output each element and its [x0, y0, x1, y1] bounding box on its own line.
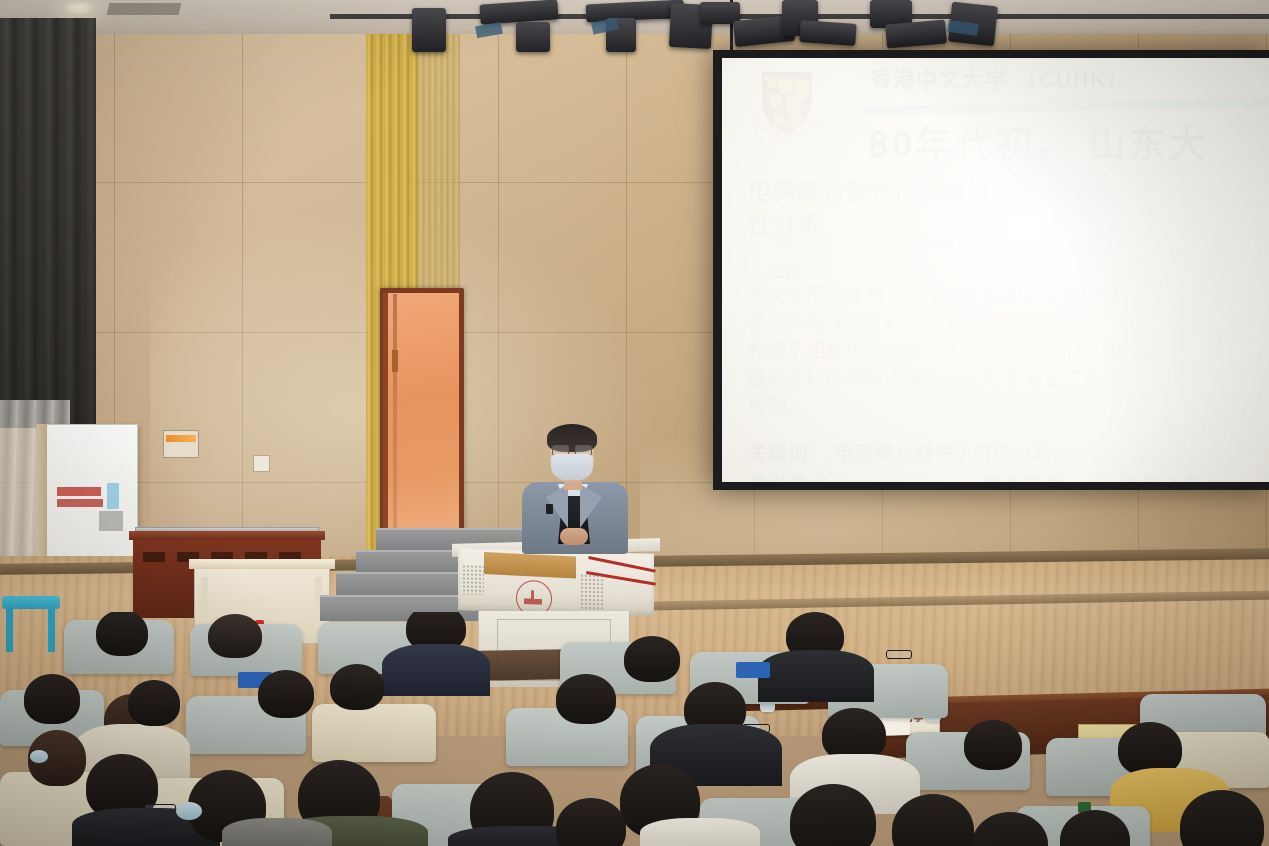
meta-year: 1982 — [1033, 237, 1075, 256]
stage-light-icon — [885, 19, 947, 48]
lectern-speaker-grille — [462, 564, 484, 595]
abstract-l3-highlight-2: CCD — [1039, 341, 1081, 362]
auditorium-seat[interactable] — [312, 704, 436, 762]
meta-dash-2: - — [1015, 237, 1033, 256]
slide-heading: 80年代初， 山东大 — [868, 114, 1208, 168]
paper-cited-count: 被引量: 5 — [748, 470, 829, 482]
wall-socket — [253, 455, 270, 472]
cabinet-plate — [99, 511, 123, 531]
stage-light-icon — [799, 20, 856, 46]
lectern-speaker-grille — [580, 574, 604, 611]
table-top — [189, 559, 335, 569]
abstract-l1-highlight: CCD — [949, 285, 991, 306]
abstract-l5: 检测... — [748, 397, 804, 418]
abstract-l3a: 构成了 — [748, 341, 806, 362]
paper-abstract: 本文采用电荷耦合器件(CCD)获得 了对模拟 信号的连续可变延迟,并以CCD为中… — [748, 282, 1268, 423]
slide-content: 博文約禮 香港中文大学 （CUHK） 80年代初， 山东大 电荷耦合器件(CCD… — [722, 58, 1269, 482]
hair-tie — [176, 802, 202, 820]
presenter-glasses-icon — [552, 445, 592, 454]
door-gap — [393, 294, 397, 548]
presenter — [520, 424, 630, 554]
meta-author: 张元亭 — [775, 237, 829, 256]
stage-light-icon — [516, 22, 550, 52]
door-jamb — [383, 293, 388, 552]
abstract-l2b: 为中心部件 — [1009, 313, 1106, 334]
slide-rule — [866, 98, 1269, 116]
lecture-hall-photo: 博文約禮 香港中文大学 （CUHK） 80年代初， 山东大 电荷耦合器件(CCD… — [0, 0, 1269, 846]
abstract-l3-highlight: 相关 — [806, 341, 845, 362]
lectern-face — [458, 548, 654, 615]
related-articles-link[interactable]: 相关文章 — [982, 470, 1066, 482]
paper-title-part-1: 电荷耦合器件( — [748, 179, 904, 206]
side-door[interactable] — [380, 288, 464, 552]
audience-head — [24, 674, 80, 724]
ceiling-vent — [107, 3, 182, 15]
lectern-wood-panel — [484, 552, 576, 578]
cuhk-crest-icon: 博文約禮 — [744, 68, 830, 140]
audience-area — [0, 612, 1269, 846]
seat-number-tag — [736, 662, 770, 678]
audience-head — [330, 664, 384, 710]
abstract-l2a: 信号的连续可变延迟,并以 — [748, 313, 967, 334]
screen-surface: 博文約禮 香港中文大学 （CUHK） 80年代初， 山东大 电荷耦合器件(CCD… — [722, 58, 1269, 482]
audience-head — [556, 674, 616, 724]
cabinet-label — [57, 487, 101, 496]
hair-tie — [30, 750, 48, 763]
stage-light-barndoor — [475, 22, 503, 38]
presenter-face-mask — [551, 454, 593, 480]
audience-shoulders — [758, 650, 874, 702]
abstract-l3b: 检测系统。文中讨论了 — [845, 341, 1039, 362]
audience-shoulders — [640, 818, 760, 846]
svg-text:博文約禮: 博文約禮 — [775, 132, 799, 140]
presenter-hands — [560, 528, 588, 545]
meta-source: 《山东大学学报(理... — [847, 237, 1015, 256]
audience-head — [556, 798, 626, 846]
audience-shoulders — [382, 644, 490, 696]
door-leaf — [388, 293, 459, 552]
stage-curtain — [0, 18, 96, 428]
audience-head — [258, 670, 314, 718]
lectern-accent-line — [588, 556, 655, 573]
meta-database: 知网 — [768, 258, 804, 283]
cabinet-label-2 — [57, 499, 103, 507]
cabinet-tag — [107, 483, 119, 509]
audience-shoulders — [222, 818, 332, 846]
abstract-l1a: 本文采用电荷耦合器件( — [748, 285, 949, 306]
meta-prefix: ... — [752, 237, 775, 256]
paper-title-part-2: )相关器及其特 — [957, 179, 1113, 206]
abstract-l4: 延时系统的参数选择的一些考虑,给出了该 — [748, 369, 1103, 390]
audience-head — [964, 720, 1022, 770]
abstract-l1b: )获得 了对模拟 — [991, 285, 1120, 306]
presenter-badge — [546, 504, 553, 514]
meta-dash-3: - — [1075, 237, 1087, 256]
credenza-top — [129, 531, 325, 540]
audience-head — [96, 612, 148, 656]
free-download-link[interactable]: 免费下载 — [1122, 470, 1206, 482]
ceiling-light-icon — [62, 2, 96, 16]
door-hinge — [392, 350, 398, 372]
stage-light-icon — [479, 0, 558, 25]
abstract-l2-highlight: CCD — [967, 313, 1009, 334]
paper-keywords: 关键词： 电荷耦合器件 / 特性分析 — [748, 438, 1053, 465]
audience-head — [624, 636, 680, 682]
paper-title-highlight: CCD — [904, 179, 958, 206]
audience-head — [208, 614, 262, 658]
projection-screen: 博文約禮 香港中文大学 （CUHK） 80年代初， 山东大 电荷耦合器件(CCD… — [713, 50, 1269, 490]
paper-meta: ... 张元亭 - 《山东大学学报(理... - 1982 - — [752, 234, 1269, 260]
stage-light-icon — [412, 8, 446, 52]
abstract-l3c: 可变 — [1081, 341, 1120, 362]
meta-dash-1: - — [829, 237, 847, 256]
wall-control-box[interactable] — [163, 430, 199, 458]
audience-head — [128, 680, 180, 726]
slide-university-name: 香港中文大学 （CUHK） — [870, 64, 1131, 94]
audience-glasses-icon — [886, 650, 912, 659]
